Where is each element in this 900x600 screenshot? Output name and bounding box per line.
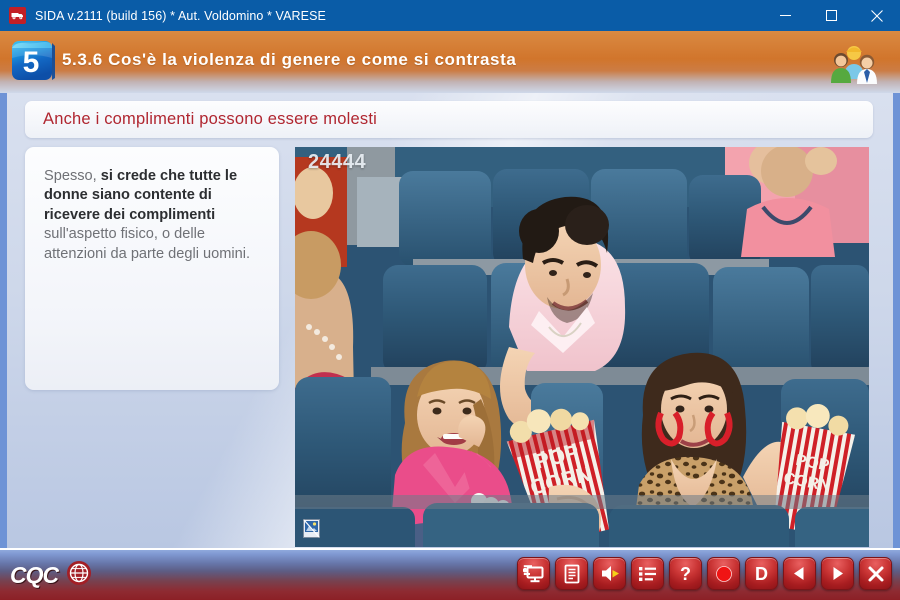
screen-icon [523, 564, 544, 583]
photo-watermark: 24444 [308, 151, 366, 174]
lesson-text-card: Spesso, si crede che tutte le donne sian… [25, 147, 279, 390]
application-window: SIDA v.2111 (build 156) * Aut. Voldomino… [0, 0, 900, 600]
lesson-photo: POP CORN [295, 147, 869, 547]
subtitle-banner: Anche i complimenti possono essere moles… [25, 101, 873, 138]
document-button[interactable] [555, 557, 588, 590]
lesson-title: 5.3.6 Cos'è la violenza di genere e come… [62, 50, 516, 70]
chapter-badge: 5 [10, 36, 57, 83]
triangle-right-icon [829, 565, 846, 582]
audio-button[interactable] [593, 557, 626, 590]
exit-button[interactable] [859, 557, 892, 590]
speaker-icon [599, 564, 621, 583]
help-button[interactable]: ? [669, 557, 702, 590]
people-icon [826, 39, 882, 85]
triangle-left-icon [791, 565, 808, 582]
truck-icon [9, 7, 26, 24]
dictionary-button[interactable]: D [745, 557, 778, 590]
lesson-text-body: Spesso, si crede che tutte le donne sian… [44, 167, 263, 264]
content-area: Anche i complimenti possono essere moles… [0, 93, 900, 548]
next-button[interactable] [821, 557, 854, 590]
cinema-audience-photo: POP CORN [295, 147, 869, 547]
brand-logo: CQC [6, 556, 118, 594]
previous-button[interactable] [783, 557, 816, 590]
document-icon [563, 564, 581, 584]
list-button[interactable] [631, 557, 664, 590]
title-bar: SIDA v.2111 (build 156) * Aut. Voldomino… [0, 0, 900, 31]
x-icon [867, 565, 885, 583]
brand-text: CQC [10, 562, 58, 589]
lesson-header: 5 5.3.6 Cos'è la violenza di genere e co… [0, 31, 900, 93]
subtitle-text: Anche i complimenti possono essere moles… [43, 110, 377, 129]
globe-icon [66, 560, 92, 591]
broken-image-icon [303, 519, 320, 538]
toolbar-button-group: ? D [517, 557, 892, 590]
letter-d-icon: D [755, 565, 768, 583]
question-mark-icon: ? [680, 565, 691, 583]
window-title: SIDA v.2111 (build 156) * Aut. Voldomino… [35, 9, 762, 23]
bottom-toolbar: CQC [0, 548, 900, 600]
list-icon [637, 565, 658, 583]
record-button[interactable] [707, 557, 740, 590]
minimize-button[interactable] [762, 0, 808, 31]
badge-number: 5 [23, 46, 40, 79]
maximize-button[interactable] [808, 0, 854, 31]
presentation-button[interactable] [517, 557, 550, 590]
close-button[interactable] [854, 0, 900, 31]
record-circle-icon [715, 565, 733, 583]
